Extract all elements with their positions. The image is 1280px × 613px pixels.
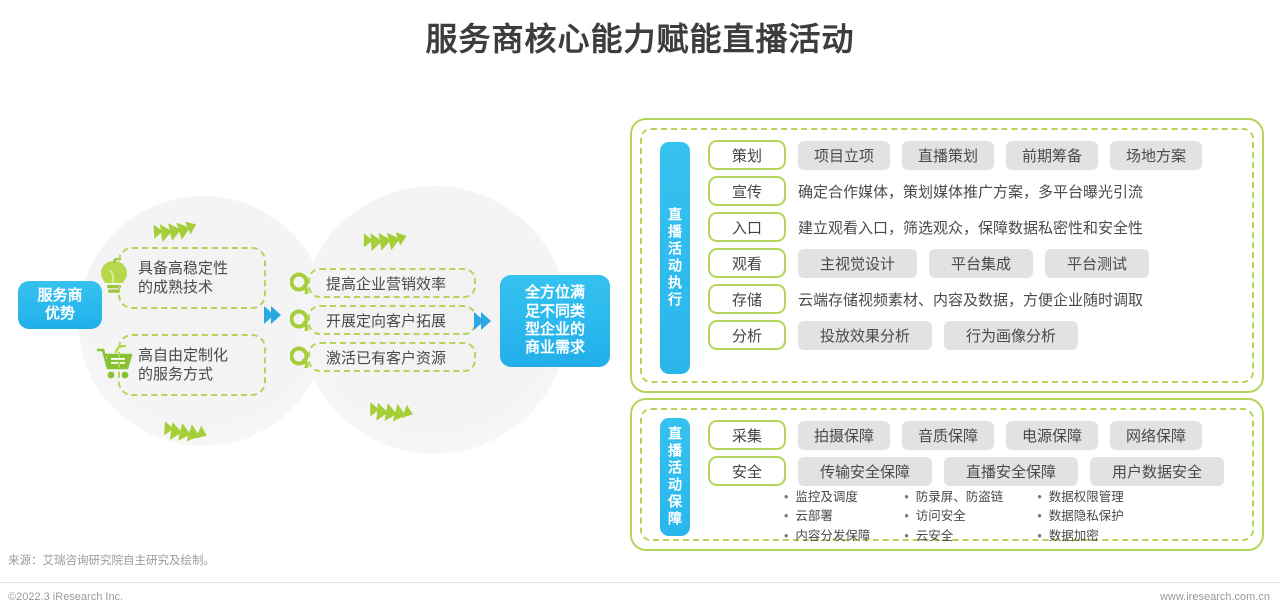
tag-item: 投放效果分析 — [798, 321, 932, 350]
tag-item: 拍摄保障 — [798, 421, 890, 450]
advantage-badge-line1: 服务商 — [37, 287, 82, 305]
middle-item-1: 提高企业营销效率 — [308, 268, 476, 298]
advantage-1-line1: 具备高稳定性 — [138, 259, 228, 279]
list-item: •防录屏、防盗链 — [904, 488, 1003, 507]
tag-item: 网络保障 — [1110, 421, 1202, 450]
table-row: 策划 项目立项 直播策划 前期筹备 场地方案 — [708, 140, 1248, 170]
table-row: 安全 传输安全保障 直播安全保障 用户数据安全 — [708, 456, 1248, 486]
tag-item: 主视觉设计 — [798, 249, 917, 278]
list-item: •数据隐私保护 — [1037, 507, 1123, 526]
advantage-2-line1: 高自由定制化 — [138, 346, 228, 366]
bullet-dot-icon: • — [784, 490, 788, 504]
tag-item: 前期筹备 — [1006, 141, 1098, 170]
result-line1: 全方位满 — [525, 284, 585, 302]
middle-item-3: 激活已有客户资源 — [308, 342, 476, 372]
guarantee-vertical-label: 直播活动保障 — [660, 418, 690, 536]
table-row: 入口 建立观看入口，筛选观众，保障数据私密性和安全性 — [708, 212, 1248, 242]
bullet-column-3: •数据权限管理 •数据隐私保护 •数据加密 — [1037, 488, 1123, 546]
bullet-dot-icon: • — [784, 509, 788, 523]
footer-bar: ©2022.3 iResearch Inc. www.iresearch.com… — [0, 582, 1280, 613]
table-row: 存储 云端存储视频素材、内容及数据，方便企业随时调取 — [708, 284, 1248, 314]
tag-item: 用户数据安全 — [1090, 457, 1224, 486]
row-category: 入口 — [708, 212, 786, 242]
execution-vertical-label: 直播活动执行 — [660, 142, 690, 374]
website-link[interactable]: www.iresearch.com.cn — [1160, 591, 1270, 603]
advantage-box-1: 具备高稳定性 的成熟技术 — [118, 247, 266, 309]
tag-item: 直播策划 — [902, 141, 994, 170]
chevron-arc-top-right — [363, 230, 405, 252]
tag-item: 行为画像分析 — [944, 321, 1078, 350]
list-item: •云部署 — [784, 507, 870, 526]
row-category: 策划 — [708, 140, 786, 170]
row-description: 确定合作媒体，策划媒体推广方案，多平台曝光引流 — [798, 181, 1143, 202]
stage-arrow-1-icon — [264, 306, 278, 324]
list-item: •内容分发保障 — [784, 527, 870, 546]
result-badge: 全方位满 足不同类 型企业的 商业需求 — [500, 275, 610, 367]
guarantee-rows: 采集 拍摄保障 音质保障 电源保障 网络保障 安全 传输安全保障 直播安全保障 … — [708, 420, 1248, 492]
bullet-dot-icon: • — [904, 509, 908, 523]
table-row: 采集 拍摄保障 音质保障 电源保障 网络保障 — [708, 420, 1248, 450]
list-item: •数据权限管理 — [1037, 488, 1123, 507]
list-item: •数据加密 — [1037, 527, 1123, 546]
infographic-root: 服务商核心能力赋能直播活动 服务商 优势 — [0, 0, 1280, 613]
row-category: 安全 — [708, 456, 786, 486]
tag-item: 项目立项 — [798, 141, 890, 170]
bullet-dot-icon: • — [904, 490, 908, 504]
guarantee-bullet-columns: •监控及调度 •云部署 •内容分发保障 •防录屏、防盗链 •访问安全 •云安全 … — [784, 488, 1246, 546]
bullet-column-2: •防录屏、防盗链 •访问安全 •云安全 — [904, 488, 1003, 546]
service-provider-advantage-badge: 服务商 优势 — [18, 281, 102, 329]
advantage-1-line2: 的成熟技术 — [138, 278, 228, 298]
live-guarantee-panel: 直播活动保障 采集 拍摄保障 音质保障 电源保障 网络保障 安全 传输安全保障 … — [630, 398, 1264, 551]
tag-item: 平台测试 — [1045, 249, 1149, 278]
result-line2: 足不同类 — [525, 303, 585, 321]
table-row: 分析 投放效果分析 行为画像分析 — [708, 320, 1248, 350]
tag-item: 场地方案 — [1110, 141, 1202, 170]
copyright-text: ©2022.3 iResearch Inc. — [8, 591, 123, 603]
tag-item: 音质保障 — [902, 421, 994, 450]
tag-item: 平台集成 — [929, 249, 1033, 278]
tag-item: 电源保障 — [1006, 421, 1098, 450]
bullet-dot-icon: • — [1037, 529, 1041, 543]
bullet-dot-icon: • — [784, 529, 788, 543]
advantage-badge-line2: 优势 — [37, 305, 82, 323]
execution-rows: 策划 项目立项 直播策划 前期筹备 场地方案 宣传 确定合作媒体，策划媒体推广方… — [708, 140, 1248, 356]
page-title: 服务商核心能力赋能直播活动 — [0, 14, 1280, 60]
row-description: 云端存储视频素材、内容及数据，方便企业随时调取 — [798, 289, 1143, 310]
bullet-marker-icon-3 — [290, 346, 310, 373]
row-category: 存储 — [708, 284, 786, 314]
row-category: 宣传 — [708, 176, 786, 206]
list-item: •访问安全 — [904, 507, 1003, 526]
tag-item: 传输安全保障 — [798, 457, 932, 486]
source-note: 来源：艾瑞咨询研究院自主研究及绘制。 — [8, 552, 215, 568]
row-category: 采集 — [708, 420, 786, 450]
result-line3: 型企业的 — [525, 321, 585, 339]
row-description: 建立观看入口，筛选观众，保障数据私密性和安全性 — [798, 217, 1143, 238]
table-row: 宣传 确定合作媒体，策划媒体推广方案，多平台曝光引流 — [708, 176, 1248, 206]
middle-item-2: 开展定向客户拓展 — [308, 305, 476, 335]
bullet-marker-icon-1 — [290, 272, 310, 299]
row-category: 观看 — [708, 248, 786, 278]
live-execution-panel: 直播活动执行 策划 项目立项 直播策划 前期筹备 场地方案 宣传 确定合作媒体，… — [630, 118, 1264, 393]
bullet-marker-icon-2 — [290, 309, 310, 336]
list-item: •云安全 — [904, 527, 1003, 546]
tag-item: 直播安全保障 — [944, 457, 1078, 486]
bullet-dot-icon: • — [1037, 509, 1041, 523]
bullet-column-1: •监控及调度 •云部署 •内容分发保障 — [784, 488, 870, 546]
bullet-dot-icon: • — [1037, 490, 1041, 504]
row-category: 分析 — [708, 320, 786, 350]
table-row: 观看 主视觉设计 平台集成 平台测试 — [708, 248, 1248, 278]
advantage-box-2: 高自由定制化 的服务方式 — [118, 334, 266, 396]
stage-arrow-2-icon — [474, 312, 488, 330]
bullet-dot-icon: • — [904, 529, 908, 543]
advantage-2-line2: 的服务方式 — [138, 365, 228, 385]
result-line4: 商业需求 — [525, 339, 585, 357]
list-item: •监控及调度 — [784, 488, 870, 507]
